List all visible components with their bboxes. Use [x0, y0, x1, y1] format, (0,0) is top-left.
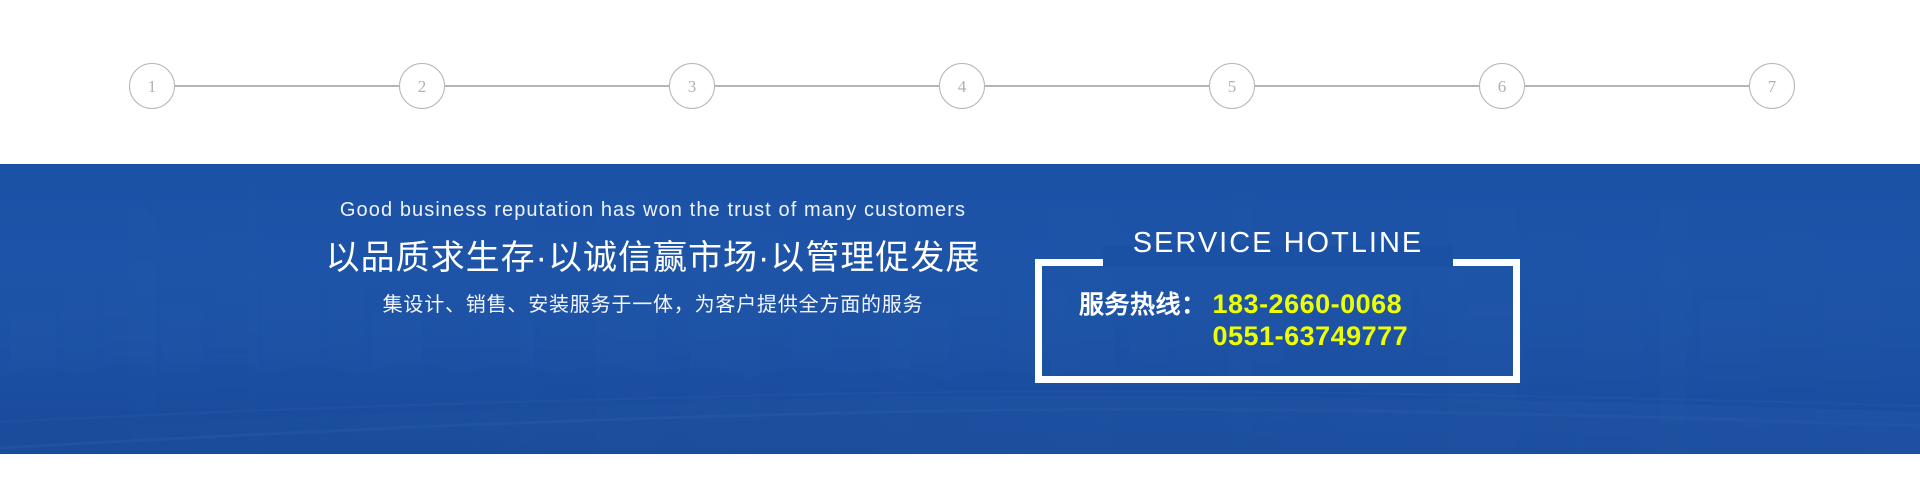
slogan-block: Good business reputation has won the tru… [300, 198, 1006, 318]
hotline-row-primary: 服务热线： 183-2660-0068 [1035, 289, 1520, 321]
pagination-connector [1255, 85, 1479, 87]
hotline-title: SERVICE HOTLINE [1113, 229, 1443, 258]
pagination-item-1[interactable]: 1 [129, 63, 175, 109]
pagination-connector [175, 85, 399, 87]
hotline-number-secondary[interactable]: 0551-63749777 [1213, 321, 1409, 353]
page-bottom-gutter [0, 454, 1920, 500]
hotline-number-primary[interactable]: 183-2660-0068 [1213, 289, 1403, 321]
hotline-block: SERVICE HOTLINE 服务热线： 183-2660-0068 服务热线… [1035, 259, 1520, 383]
hotline-numbers: 服务热线： 183-2660-0068 服务热线： 0551-63749777 [1035, 289, 1520, 353]
pagination-item-7[interactable]: 7 [1749, 63, 1795, 109]
pagination-connector [445, 85, 669, 87]
hotline-row-secondary: 服务热线： 0551-63749777 [1035, 321, 1520, 353]
pagination-item-3[interactable]: 3 [669, 63, 715, 109]
pagination-connector [985, 85, 1209, 87]
pagination-connector [1525, 85, 1749, 87]
pagination-connector [715, 85, 939, 87]
pagination: 1 2 3 4 5 6 7 [129, 63, 1795, 109]
slogan-english: Good business reputation has won the tru… [300, 198, 1006, 222]
slogan-headline: 以品质求生存·以诚信赢市场·以管理促发展 [300, 237, 1006, 280]
service-banner: Good business reputation has won the tru… [0, 164, 1920, 454]
pagination-item-4[interactable]: 4 [939, 63, 985, 109]
hotline-label-spacer: 服务热线： [1079, 323, 1207, 353]
pagination-strip: 1 2 3 4 5 6 7 [0, 0, 1920, 164]
slogan-subline: 集设计、销售、安装服务于一体，为客户提供全方面的服务 [300, 293, 1006, 318]
pagination-item-5[interactable]: 5 [1209, 63, 1255, 109]
page-root: 1 2 3 4 5 6 7 [0, 0, 1920, 500]
pagination-item-2[interactable]: 2 [399, 63, 445, 109]
pagination-item-6[interactable]: 6 [1479, 63, 1525, 109]
hotline-label: 服务热线： [1079, 291, 1207, 321]
